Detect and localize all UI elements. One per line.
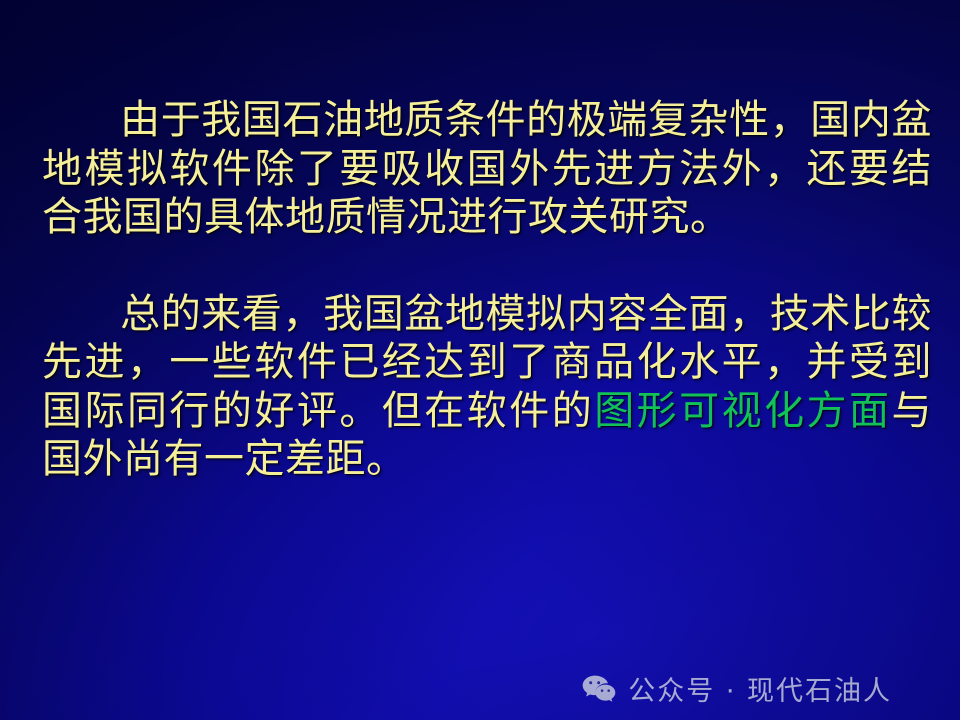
slide-canvas: 由于我国石油地质条件的极端复杂性，国内盆地模拟软件除了要吸收国外先进方法外，还要… [0,0,960,720]
paragraph-1-text: 由于我国石油地质条件的极端复杂性，国内盆地模拟软件除了要吸收国外先进方法外，还要… [42,97,932,240]
highlighted-term-graphics-visualization: 图形可视化方面 [594,388,891,434]
watermark: 公众号 · 现代石油人 [582,669,892,708]
wechat-icon [582,674,616,704]
watermark-text: 公众号 · 现代石油人 [628,669,892,708]
paragraph-2: 总的来看，我国盆地模拟内容全面，技术比较先进，一些软件已经达到了商品化水平，并受… [42,290,932,484]
paragraph-1: 由于我国石油地质条件的极端复杂性，国内盆地模拟软件除了要吸收国外先进方法外，还要… [42,96,932,242]
slide-body: 由于我国石油地质条件的极端复杂性，国内盆地模拟软件除了要吸收国外先进方法外，还要… [42,96,932,484]
